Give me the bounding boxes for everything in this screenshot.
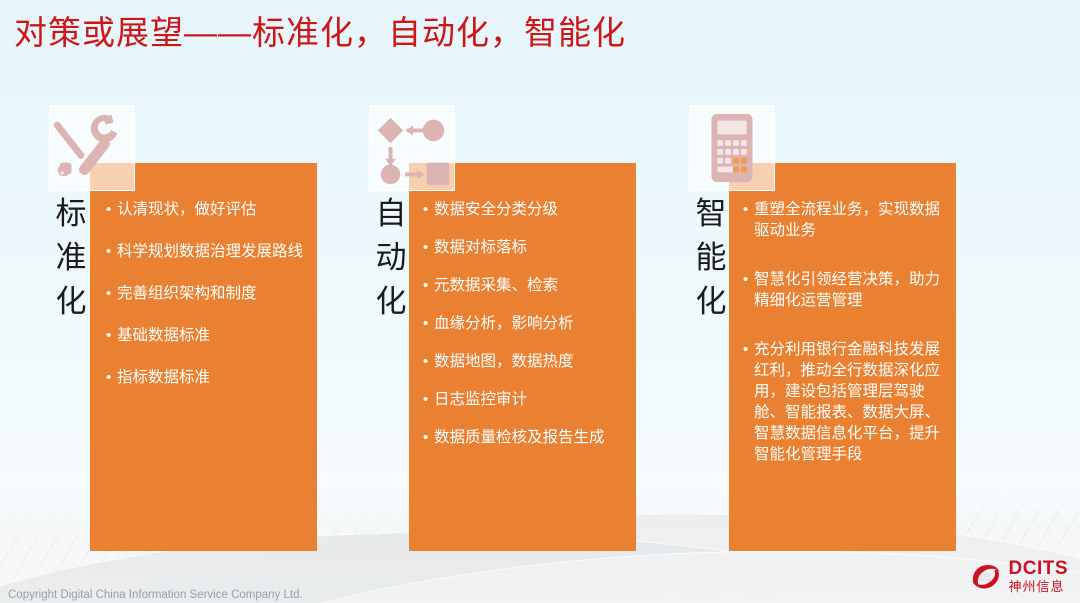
vlabel-char: 标 (48, 192, 94, 236)
dcits-logo-mark (969, 560, 1003, 592)
panel-automation: 数据安全分类分级 数据对标落标 元数据采集、检索 血缘分析，影响分析 数据地图，… (409, 163, 636, 551)
column-label-automation: 自 动 化 (368, 192, 414, 324)
list-item: 数据对标落标 (423, 237, 624, 258)
column-label-standardization: 标 准 化 (48, 192, 94, 324)
workflow-icon (369, 105, 455, 191)
list-item: 元数据采集、检索 (423, 275, 624, 296)
list-item: 完善组织架构和制度 (106, 283, 303, 304)
list-item: 数据安全分类分级 (423, 199, 624, 220)
list-item: 日志监控审计 (423, 389, 624, 410)
panel-standardization: 认清现状，做好评估 科学规划数据治理发展路线 完善组织架构和制度 基础数据标准 … (90, 163, 317, 551)
slide-canvas: 对策或展望——标准化，自动化，智能化 标 准 化 (0, 0, 1080, 603)
logo-english-name: DCITS (1009, 559, 1069, 578)
copyright-text: Copyright Digital China Information Serv… (8, 589, 303, 601)
column-label-intelligence: 智 能 化 (688, 192, 734, 324)
logo-text-block: DCITS 神州信息 (1009, 559, 1069, 593)
tools-icon (49, 105, 135, 191)
list-item: 数据质量检核及报告生成 (423, 427, 624, 448)
list-item: 科学规划数据治理发展路线 (106, 241, 303, 262)
list-item: 血缘分析，影响分析 (423, 313, 624, 334)
list-item: 数据地图，数据热度 (423, 351, 624, 372)
vlabel-char: 化 (688, 280, 734, 324)
list-item: 重塑全流程业务，实现数据驱动业务 (743, 199, 944, 241)
vlabel-char: 化 (48, 280, 94, 324)
bullet-list-standardization: 认清现状，做好评估 科学规划数据治理发展路线 完善组织架构和制度 基础数据标准 … (106, 199, 303, 388)
calculator-icon (689, 105, 775, 191)
vlabel-char: 准 (48, 236, 94, 280)
vlabel-char: 动 (368, 236, 414, 280)
slide-title: 对策或展望——标准化，自动化，智能化 (14, 9, 626, 57)
list-item: 充分利用银行金融科技发展红利，推动全行数据深化应用，建设包括管理层驾驶舱、智能报… (743, 339, 944, 465)
vlabel-char: 能 (688, 236, 734, 280)
list-item: 指标数据标准 (106, 367, 303, 388)
company-logo: DCITS 神州信息 (969, 559, 1069, 593)
list-item: 基础数据标准 (106, 325, 303, 346)
bullet-list-automation: 数据安全分类分级 数据对标落标 元数据采集、检索 血缘分析，影响分析 数据地图，… (423, 199, 624, 448)
logo-chinese-name: 神州信息 (1009, 580, 1069, 593)
list-item: 认清现状，做好评估 (106, 199, 303, 220)
vlabel-char: 智 (688, 192, 734, 236)
list-item: 智慧化引领经营决策，助力精细化运营管理 (743, 269, 944, 311)
vlabel-char: 化 (368, 280, 414, 324)
panel-intelligence: 重塑全流程业务，实现数据驱动业务 智慧化引领经营决策，助力精细化运营管理 充分利… (729, 163, 956, 551)
bullet-list-intelligence: 重塑全流程业务，实现数据驱动业务 智慧化引领经营决策，助力精细化运营管理 充分利… (743, 199, 944, 465)
vlabel-char: 自 (368, 192, 414, 236)
